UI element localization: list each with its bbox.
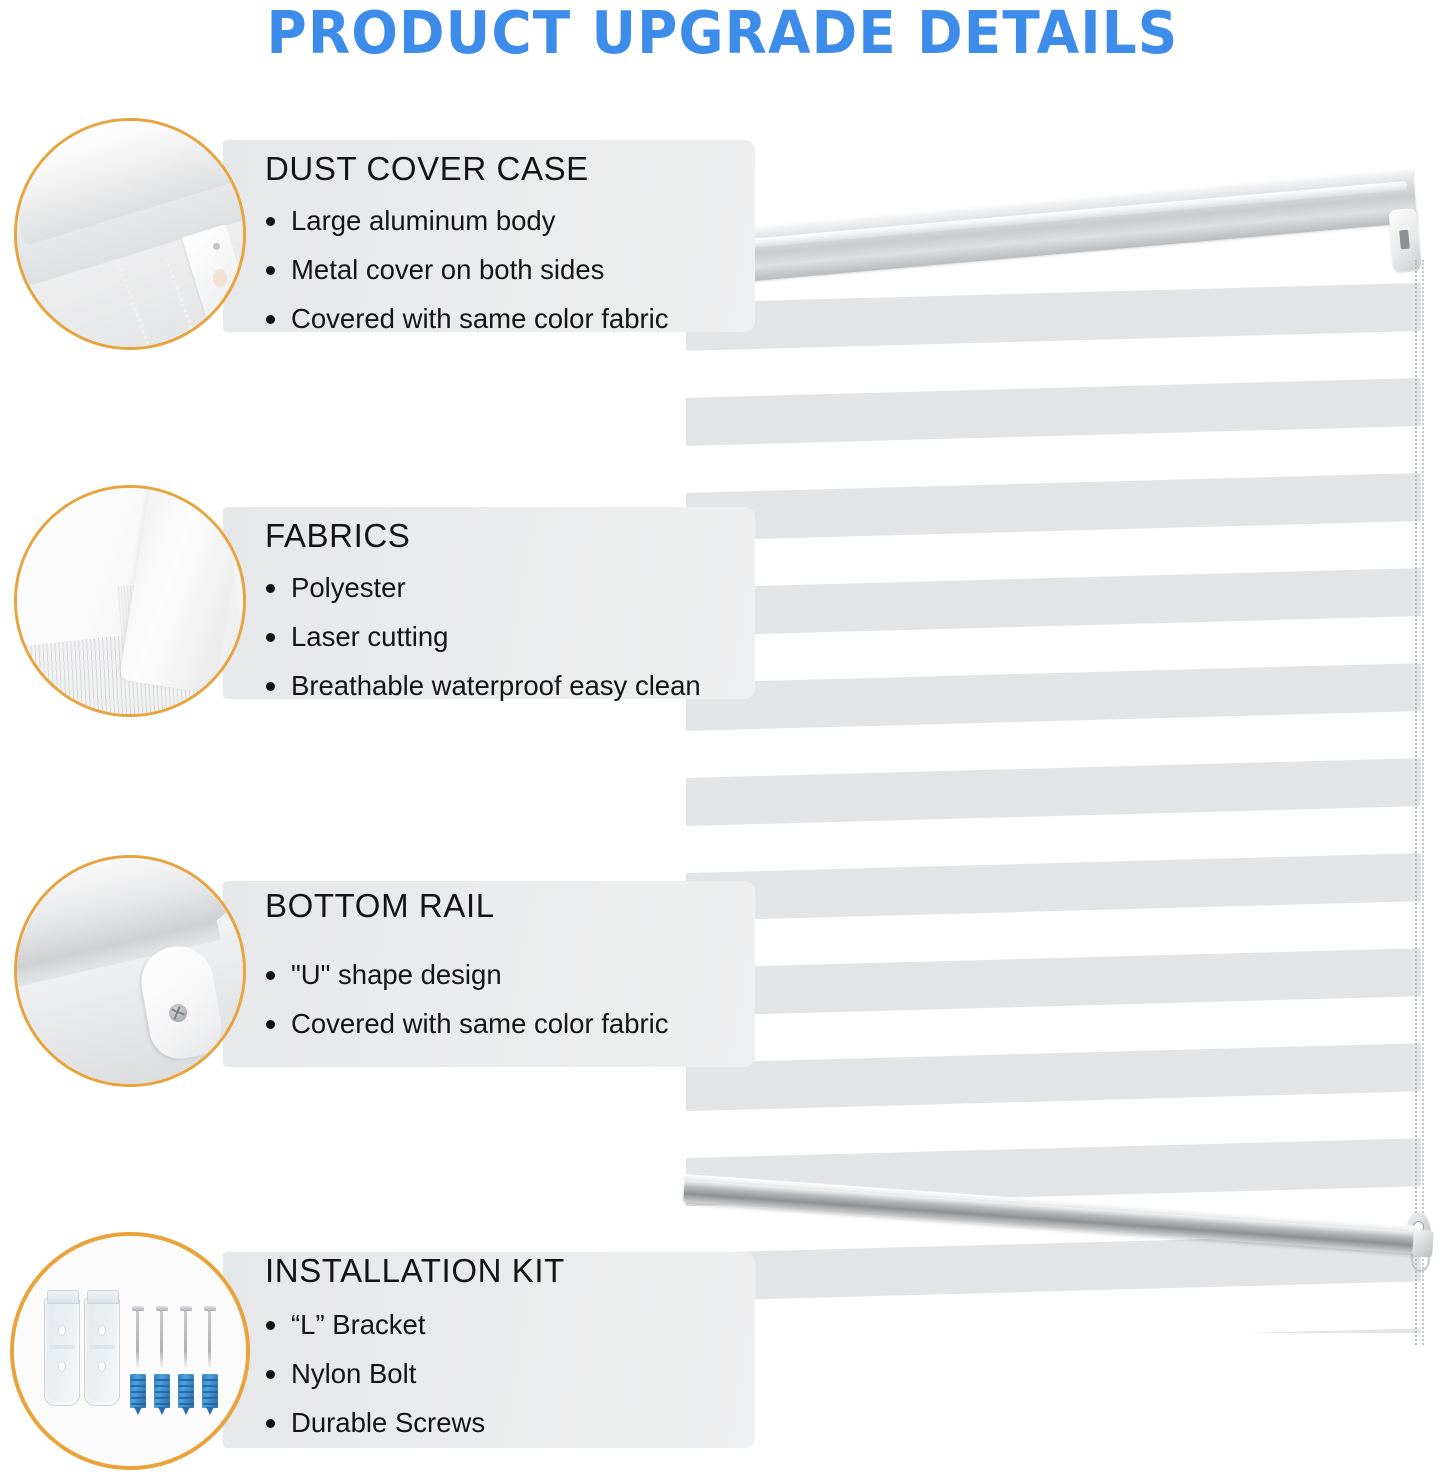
installation-kit-artwork: [14, 1236, 246, 1466]
screw-shaft: [184, 1311, 187, 1368]
bottom-rail-artwork: [17, 858, 243, 1084]
fabric-stripe: [686, 947, 1421, 1017]
list-item: Nylon Bolt: [265, 1349, 485, 1398]
list-item: Covered with same color fabric: [265, 999, 669, 1048]
list-item: Covered with same color fabric: [265, 294, 669, 343]
anchor-fin: [203, 1403, 217, 1405]
feature-title: FABRICS: [265, 517, 410, 555]
bottom-rail-end-cap: [1412, 1229, 1434, 1257]
list-item: Durable Screws: [265, 1398, 485, 1447]
feature-image-bottom-rail: [14, 855, 246, 1087]
bracket-hole-bottom: [58, 1361, 66, 1372]
screw-icon: [182, 1306, 190, 1368]
feature-title: INSTALLATION KIT: [265, 1252, 565, 1290]
wall-anchor-icon: [154, 1374, 170, 1414]
anchor-fin: [131, 1403, 145, 1405]
anchor-tip: [134, 1407, 142, 1415]
screw-shaft: [160, 1311, 163, 1368]
bottom-rail-body: [683, 1180, 1423, 1254]
anchor-fin: [155, 1391, 169, 1393]
product-bottom-rail: [678, 1158, 1445, 1268]
wall-anchor-icon: [202, 1374, 218, 1414]
list-item: "U" shape design: [265, 950, 669, 999]
anchor-fin: [179, 1397, 193, 1399]
anchor-fin: [155, 1403, 169, 1405]
fabric-stripe: [686, 1327, 1421, 1333]
fabric-artwork: [17, 488, 243, 714]
anchor-tip: [182, 1407, 190, 1415]
feature-bullet-list: “L” Bracket Nylon Bolt Durable Screws: [265, 1300, 485, 1447]
bracket-hole-bottom: [98, 1361, 106, 1372]
bracket-hole-top: [98, 1325, 106, 1336]
screw-shaft: [208, 1311, 211, 1368]
headrail-end-slot: [1399, 230, 1410, 250]
headrail-body: [694, 171, 1418, 286]
list-item: Breathable waterproof easy clean: [265, 661, 701, 710]
anchor-fin: [131, 1391, 145, 1393]
feature-image-dust-cover-case: [14, 118, 246, 350]
product-illustration: [678, 190, 1445, 1330]
page-title: PRODUCT UPGRADE DETAILS: [51, 2, 1395, 64]
feature-bullet-list: Polyester Laser cutting Breathable water…: [265, 563, 701, 710]
wall-anchor-icon: [130, 1374, 146, 1414]
screw-icon: [206, 1306, 214, 1368]
feature-image-installation-kit: [10, 1232, 250, 1470]
fabric-stripe: [686, 377, 1421, 447]
fabric-stripe: [686, 472, 1421, 542]
feature-image-fabrics: [14, 485, 246, 717]
anchor-fin: [155, 1385, 169, 1387]
fabric-stripe: [686, 757, 1421, 827]
screw-icon: [134, 1306, 142, 1368]
anchor-fin: [179, 1385, 193, 1387]
anchor-tip: [206, 1407, 214, 1415]
list-item: Polyester: [265, 563, 701, 612]
feature-bullet-list: "U" shape design Covered with same color…: [265, 950, 669, 1048]
bracket-tab: [47, 1290, 79, 1304]
fabric-stripe: [686, 662, 1421, 732]
list-item: “L” Bracket: [265, 1300, 485, 1349]
fabric-stripe: [686, 567, 1421, 637]
anchor-fin: [203, 1391, 217, 1393]
infographic-canvas: PRODUCT UPGRADE DETAILS: [0, 0, 1445, 1479]
fabric-stripe: [686, 1042, 1421, 1112]
anchor-fin: [203, 1379, 217, 1381]
anchor-tip: [158, 1407, 166, 1415]
anchor-fin: [203, 1385, 217, 1387]
l-bracket-icon: [84, 1298, 120, 1406]
bracket-slot: [49, 1345, 75, 1349]
dust-cover-logo: [213, 269, 227, 287]
anchor-fin: [203, 1397, 217, 1399]
anchor-fin: [155, 1379, 169, 1381]
wall-anchor-icon: [178, 1374, 194, 1414]
anchor-fin: [131, 1379, 145, 1381]
list-item: Large aluminum body: [265, 196, 669, 245]
feature-title: BOTTOM RAIL: [265, 887, 495, 925]
dust-cover-screw: [213, 243, 220, 250]
screw-icon: [158, 1306, 166, 1368]
anchor-fin: [179, 1403, 193, 1405]
anchor-fin: [179, 1379, 193, 1381]
bracket-hole-top: [58, 1325, 66, 1336]
kit-parts-group: [42, 1298, 222, 1410]
bottom-rail-screw: [169, 1004, 187, 1022]
anchor-fin: [131, 1397, 145, 1399]
anchor-fin: [155, 1397, 169, 1399]
feature-title: DUST COVER CASE: [265, 150, 589, 188]
list-item: Laser cutting: [265, 612, 701, 661]
dust-cover-artwork: [17, 121, 243, 347]
list-item: Metal cover on both sides: [265, 245, 669, 294]
feature-bullet-list: Large aluminum body Metal cover on both …: [265, 196, 669, 343]
product-headrail: [678, 190, 1445, 350]
anchor-fin: [131, 1385, 145, 1387]
l-bracket-icon: [44, 1298, 80, 1406]
fabric-stripe: [686, 852, 1421, 922]
bracket-slot: [89, 1345, 115, 1349]
screw-shaft: [136, 1311, 139, 1368]
bracket-tab: [87, 1290, 119, 1304]
anchor-fin: [179, 1391, 193, 1393]
